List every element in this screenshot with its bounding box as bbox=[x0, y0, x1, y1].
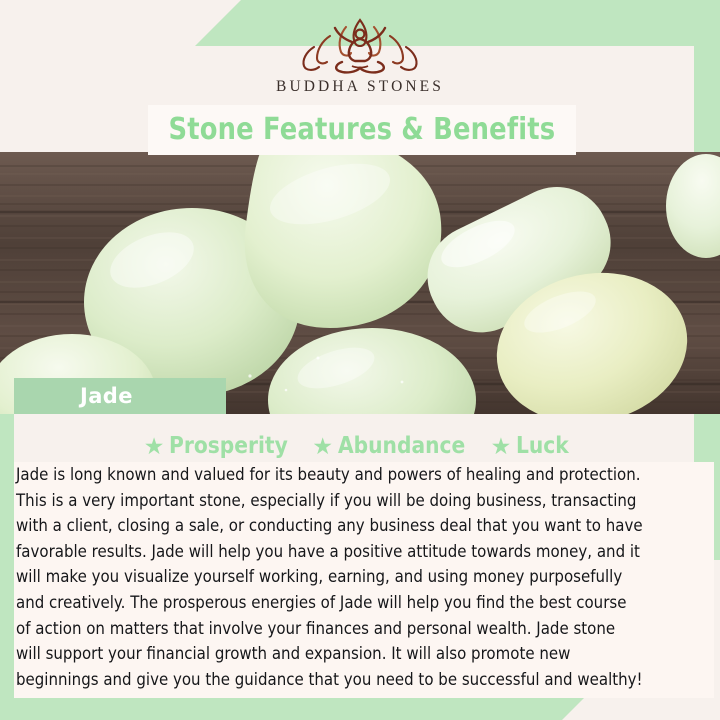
benefit-label-luck: Luck bbox=[516, 435, 569, 458]
star-icon: ★ bbox=[144, 435, 165, 458]
title-banner: Stone Features & Benefits bbox=[148, 105, 576, 155]
benefit-item-abundance: ★ Abundance bbox=[312, 435, 482, 458]
page-title: Stone Features & Benefits bbox=[169, 115, 556, 145]
brand-logo: BUDDHA STONES bbox=[0, 14, 720, 104]
brand-name: BUDDHA STONES bbox=[276, 78, 444, 96]
star-icon: ★ bbox=[312, 435, 333, 458]
stone-name-band: Jade bbox=[14, 378, 226, 414]
poster-root: BUDDHA STONES Stone Features & Benefits bbox=[0, 0, 720, 720]
stone-name-label: Jade bbox=[80, 386, 133, 407]
frame-accent-left bbox=[0, 372, 14, 720]
description-text: Jade is long known and valued for its be… bbox=[16, 462, 644, 692]
stone-photo-illustration bbox=[0, 152, 720, 414]
benefit-item-prosperity: ★ Prosperity bbox=[144, 435, 305, 458]
benefit-label-abundance: Abundance bbox=[338, 435, 465, 458]
lotus-meditation-icon bbox=[294, 14, 426, 76]
benefits-row: ★ Prosperity ★ Abundance ★ Luck bbox=[14, 430, 706, 462]
benefit-label-prosperity: Prosperity bbox=[169, 435, 288, 458]
stone-photo bbox=[0, 152, 720, 414]
star-icon: ★ bbox=[491, 435, 512, 458]
benefit-item-luck: ★ Luck bbox=[491, 435, 577, 458]
